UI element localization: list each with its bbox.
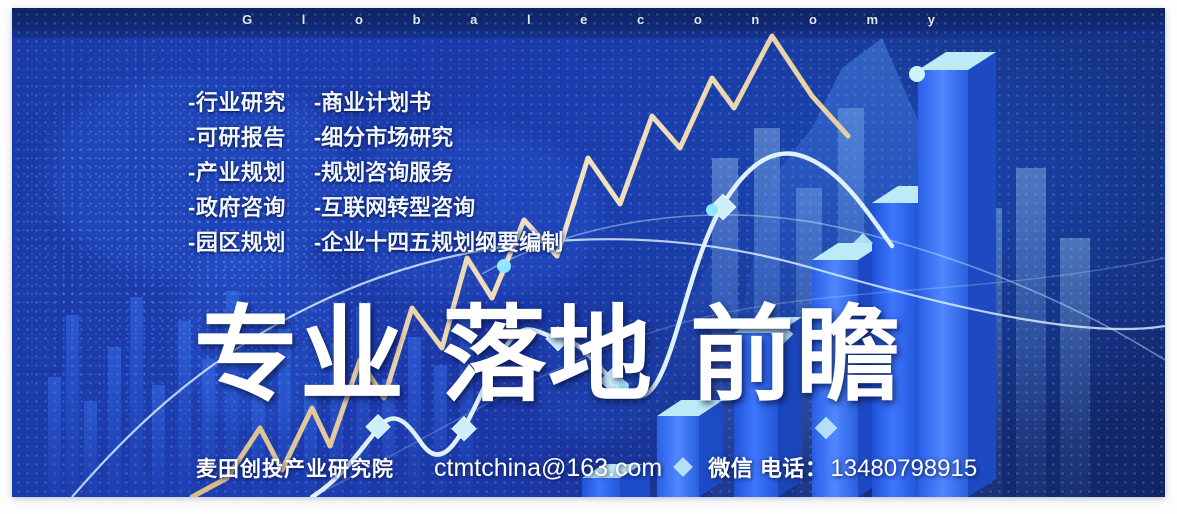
service-item: -可研报告 (188, 123, 286, 152)
headline-word-1: 专业 (194, 304, 406, 408)
services-lists: -行业研究 -可研报告 -产业规划 -政府咨询 -园区规划 -商业计划书 -细分… (188, 88, 563, 257)
service-item: -规划咨询服务 (314, 158, 563, 187)
service-item: -商业计划书 (314, 88, 563, 117)
marketing-banner: G l o b a l e c o n o m y -行业研究 -可研报告 -产… (12, 8, 1165, 497)
services-column-right: -商业计划书 -细分市场研究 -规划咨询服务 -互联网转型咨询 -企业十四五规划… (314, 88, 563, 257)
headline-word-3: 前瞻 (690, 304, 902, 408)
page-title: 专业 落地 前瞻 (194, 304, 902, 408)
screenshot-root: G l o b a l e c o n o m y -行业研究 -可研报告 -产… (0, 0, 1177, 514)
service-item: -互联网转型咨询 (314, 193, 563, 222)
service-item: -行业研究 (188, 88, 286, 117)
top-tagline: G l o b a l e c o n o m y (12, 12, 1165, 27)
phone-number[interactable]: 13480798915 (830, 455, 977, 483)
service-item: -政府咨询 (188, 193, 286, 222)
service-item: -产业规划 (188, 158, 286, 187)
wechat-phone-label: 微信 电话： (708, 451, 827, 483)
service-item: -企业十四五规划纲要编制 (314, 228, 563, 257)
bar-b6 (918, 52, 996, 497)
email-address[interactable]: ctmtchina@163.com (434, 454, 662, 483)
service-item: -细分市场研究 (314, 123, 563, 152)
service-item: -园区规划 (188, 228, 286, 257)
chart-graphic (12, 8, 1165, 497)
organization-name: 麦田创投产业研究院 (196, 453, 394, 483)
headline-word-2: 落地 (442, 304, 654, 408)
contact-footer: 麦田创投产业研究院 ctmtchina@163.com 微信 电话： 13480… (196, 451, 977, 483)
services-column-left: -行业研究 -可研报告 -产业规划 -政府咨询 -园区规划 (188, 88, 286, 257)
